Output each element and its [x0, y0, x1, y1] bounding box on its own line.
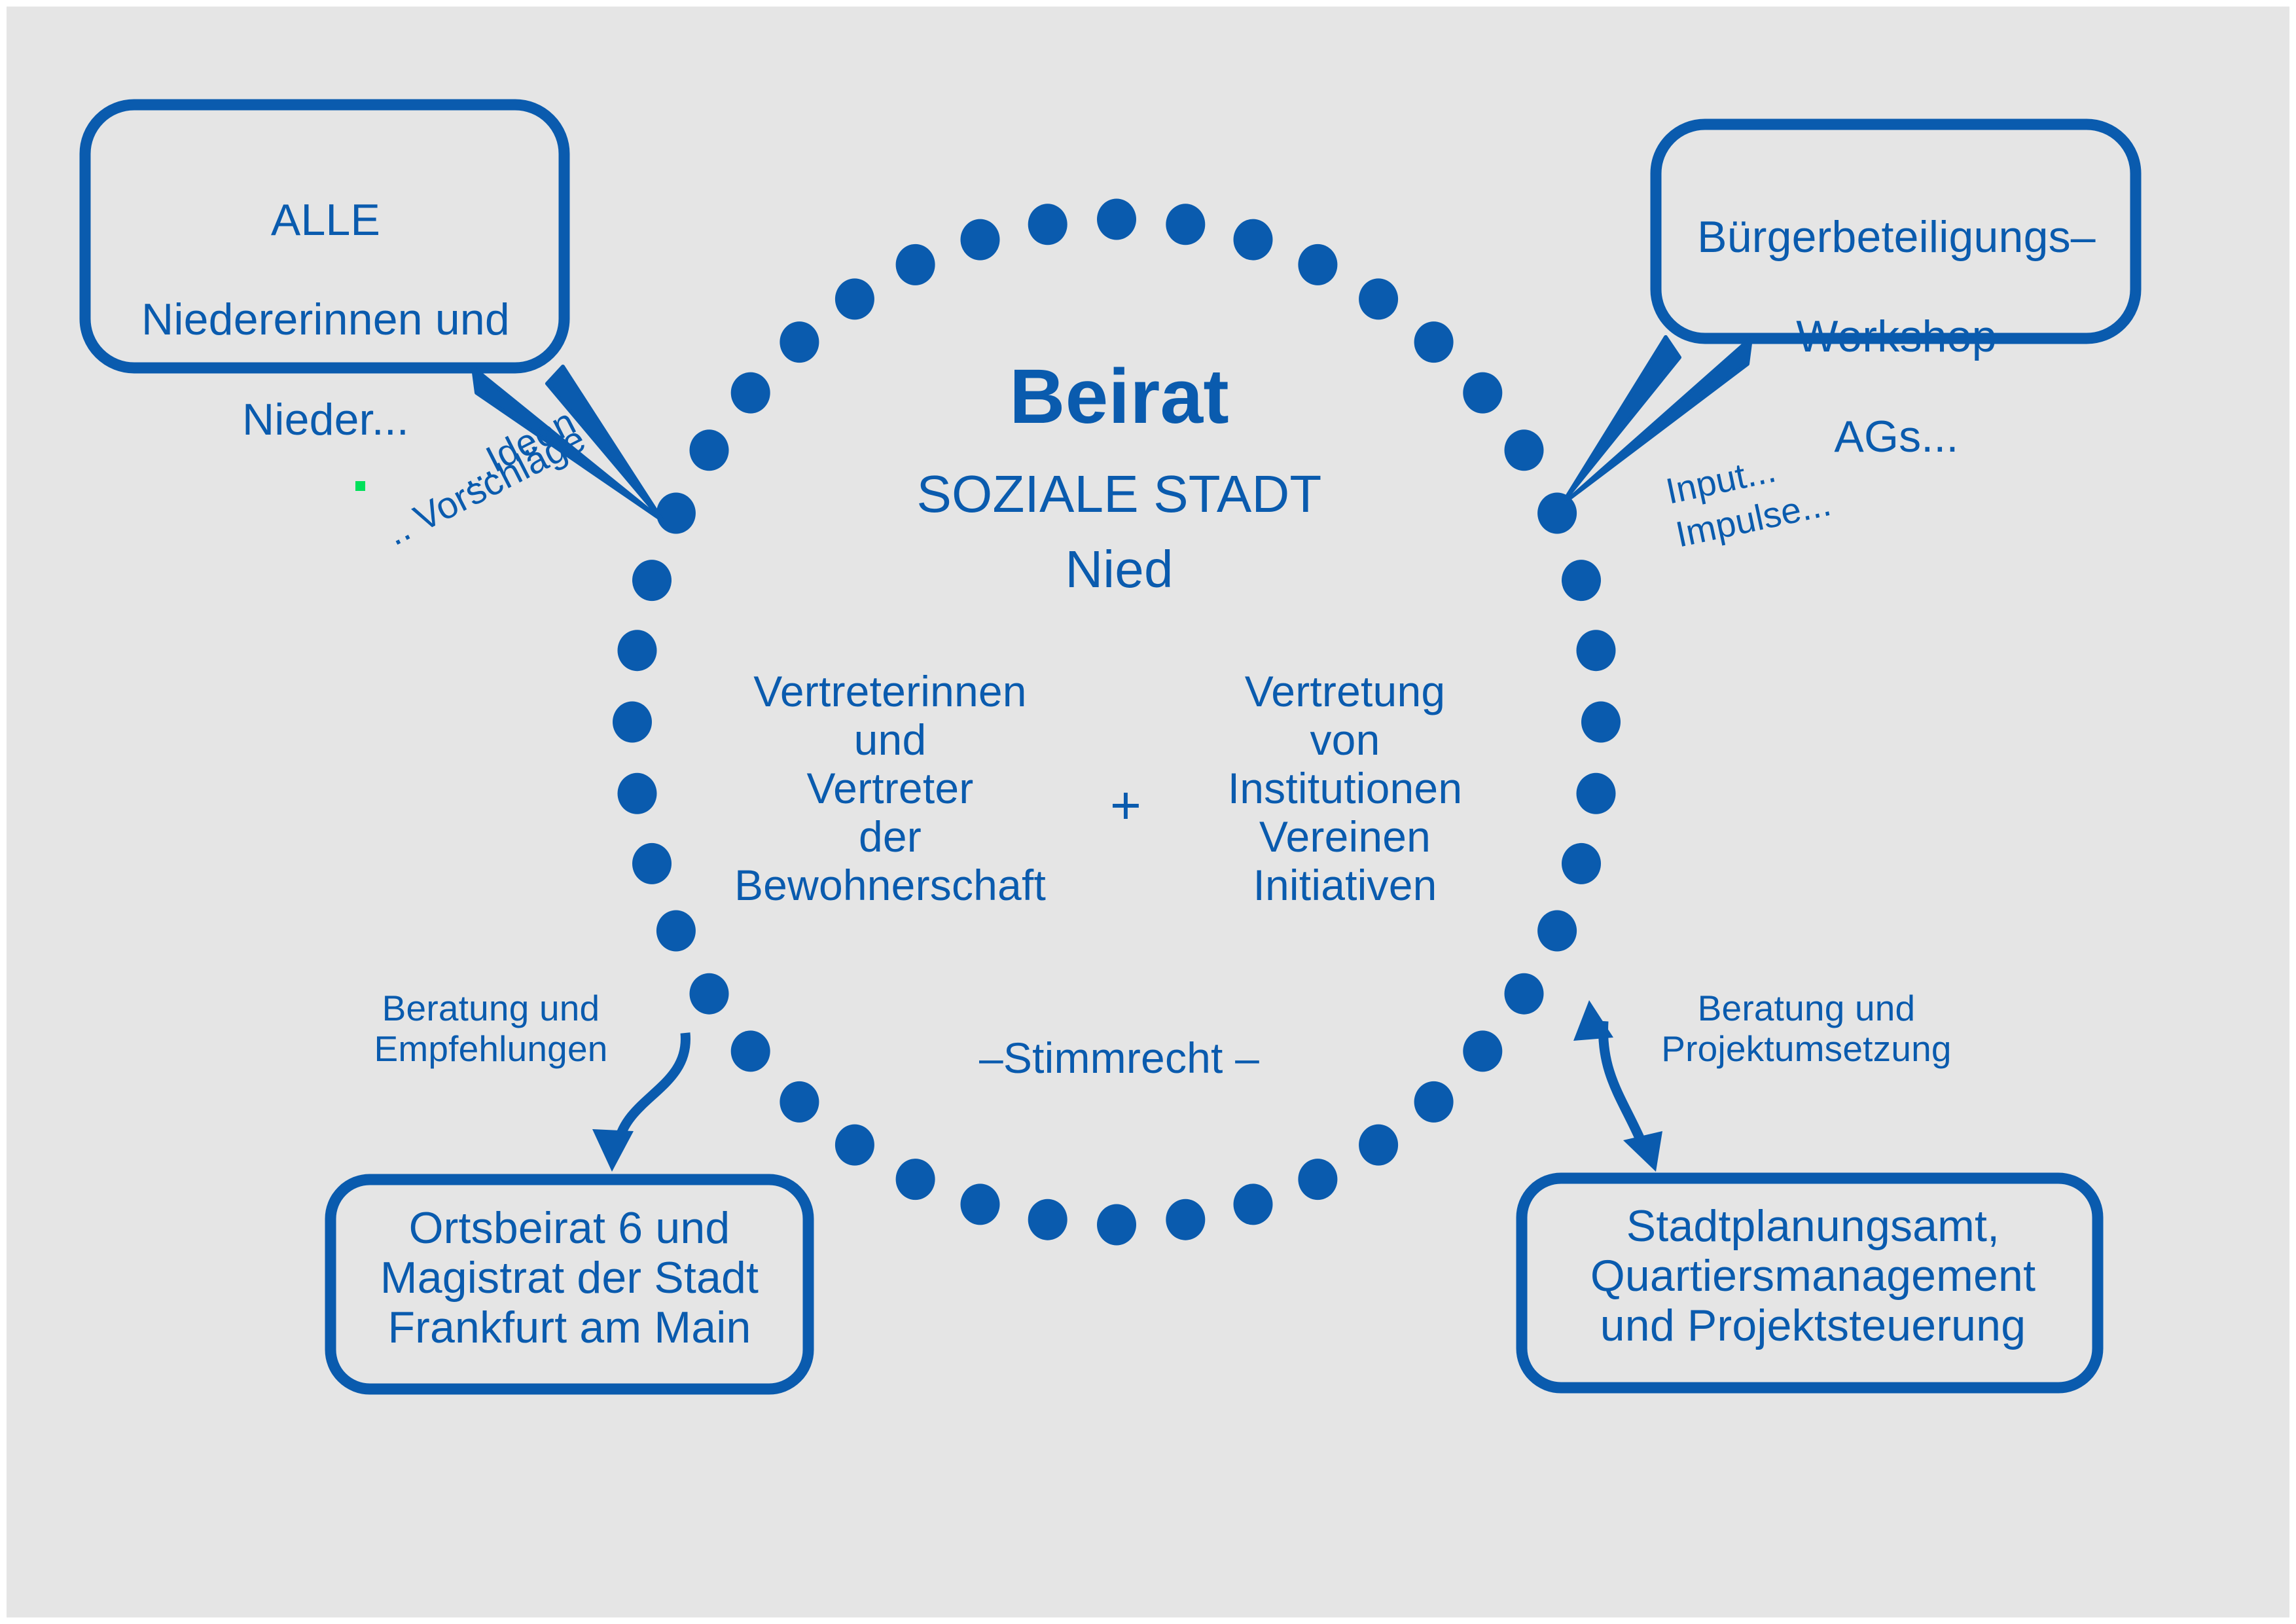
bubble-workshop-line3: AGs...: [1656, 412, 2137, 461]
ring-dot: [961, 219, 1000, 261]
ring-dot: [1359, 1125, 1398, 1166]
ring-dot: [1028, 204, 1067, 245]
ring-dot: [632, 843, 672, 884]
ring-dot: [835, 1125, 874, 1166]
center-right-column: Vertretung von Institutionen Vereinen In…: [1178, 668, 1512, 910]
bubble-alle-line1: ALLE: [85, 195, 566, 245]
ring-dot: [1537, 911, 1577, 952]
ring-dot: [1298, 1159, 1337, 1200]
plus-sign: +: [1073, 776, 1178, 836]
ring-dot: [1166, 204, 1205, 245]
ring-dot: [896, 1159, 935, 1200]
ring-dot: [1234, 219, 1273, 261]
bubble-alle-text: ALLE Niedererinnen und Nieder...: [85, 105, 566, 367]
ring-dot: [618, 773, 657, 814]
ring-dot: [690, 429, 729, 471]
ring-dot: [1505, 429, 1544, 471]
ring-dot: [1577, 773, 1616, 814]
ring-dot: [731, 372, 770, 414]
annotation-beratung-projektumsetzung: Beratung und Projektumsetzung: [1636, 988, 1977, 1069]
ring-dot: [1562, 843, 1601, 884]
ring-dot: [1097, 1204, 1136, 1246]
ring-dot: [1581, 702, 1621, 743]
box-stadtplanung-label: Stadtplanungsamt, Quartiersmanagement un…: [1532, 1201, 2094, 1350]
diagram-canvas: ALLE Niedererinnen und Nieder... Bürgerb…: [0, 0, 2296, 1624]
ring-dot: [1505, 973, 1544, 1015]
ring-dot: [896, 244, 935, 285]
ring-dot: [731, 1030, 770, 1072]
ring-dot: [1463, 372, 1502, 414]
ring-dot: [1562, 560, 1601, 601]
ring-dot: [961, 1183, 1000, 1225]
box-ortsbeirat-label: Ortsbeirat 6 und Magistrat der Stadt Fra…: [337, 1203, 802, 1352]
bubble-workshop-text: Bürgerbeteiligungs– Workshop AGs...: [1656, 124, 2137, 340]
ring-dot: [656, 493, 696, 534]
ring-dot: [1463, 1030, 1502, 1072]
ring-dot: [1234, 1183, 1273, 1225]
ring-dot: [1414, 1081, 1454, 1123]
ring-dot: [1577, 630, 1616, 671]
ring-dot: [1298, 244, 1337, 285]
ring-dot: [632, 560, 672, 601]
bubble-workshop-line1: Bürgerbeteiligungs–: [1656, 212, 2137, 262]
ring-dot: [1359, 278, 1398, 319]
center-left-column: Vertreterinnen und Vertreter der Bewohne…: [707, 668, 1073, 910]
center-subtitle-line2: Nied: [779, 540, 1460, 599]
ring-dot: [1028, 1199, 1067, 1240]
bubble-alle-line2: Niedererinnen und: [85, 295, 566, 344]
ring-dot: [780, 1081, 819, 1123]
bubble-workshop-line2: Workshop: [1656, 312, 2137, 361]
ring-dot: [835, 278, 874, 319]
center-title: Beirat: [779, 353, 1460, 440]
ring-dot: [613, 702, 652, 743]
ring-dot: [656, 911, 696, 952]
ring-dot: [618, 630, 657, 671]
ring-dot: [1097, 199, 1136, 240]
stimmrecht-label: –Stimmrecht –: [916, 1034, 1322, 1083]
ring-dot: [1166, 1199, 1205, 1240]
center-subtitle-line1: SOZIALE STADT: [779, 465, 1460, 524]
ring-dot: [690, 973, 729, 1015]
annotation-beratung-empfehlungen: Beratung und Empfehlungen: [347, 988, 635, 1069]
